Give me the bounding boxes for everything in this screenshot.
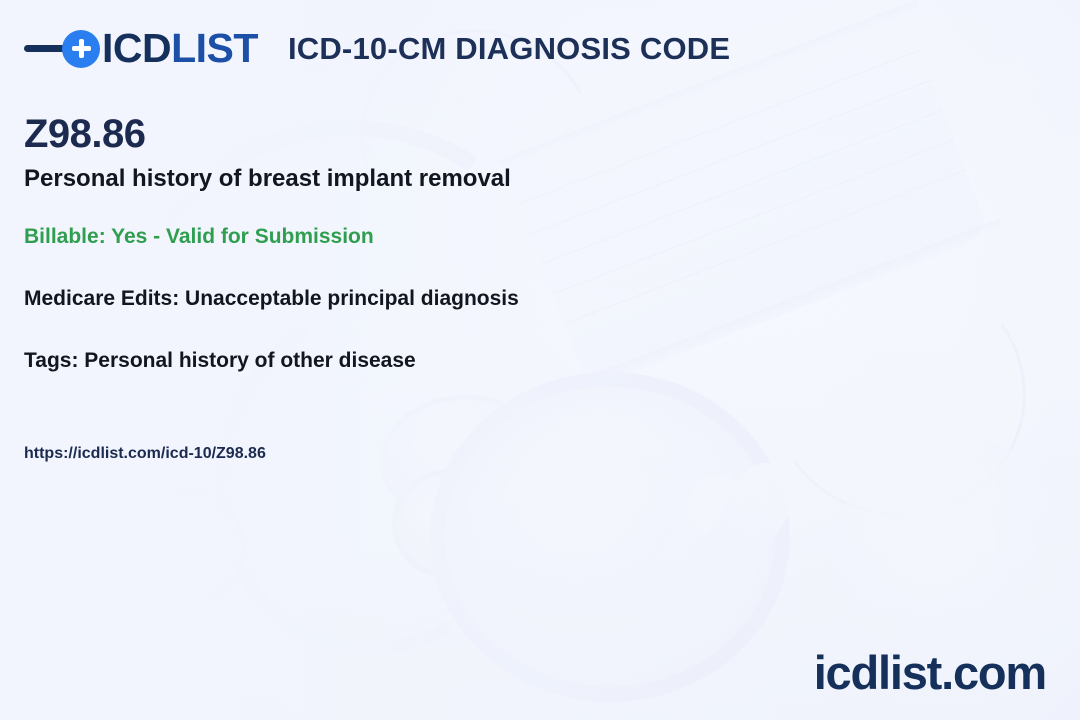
icd-code-card: ICDLIST ICD-10-CM DIAGNOSIS CODE Z98.86 … xyxy=(0,0,1080,720)
logo-word-list: LIST xyxy=(171,25,258,71)
page-title: ICD-10-CM DIAGNOSIS CODE xyxy=(288,31,730,67)
billable-status: Billable: Yes - Valid for Submission xyxy=(24,224,374,249)
card-content: ICDLIST ICD-10-CM DIAGNOSIS CODE Z98.86 … xyxy=(0,0,1080,720)
source-url[interactable]: https://icdlist.com/icd-10/Z98.86 xyxy=(24,444,266,463)
diagnosis-description: Personal history of breast implant remov… xyxy=(24,165,511,194)
icdlist-logo[interactable]: ICDLIST xyxy=(24,28,258,69)
header: ICDLIST ICD-10-CM DIAGNOSIS CODE xyxy=(24,28,730,69)
logo-wordmark: ICDLIST xyxy=(102,28,258,69)
logo-word-icd: ICD xyxy=(102,25,171,71)
medicare-edits: Medicare Edits: Unacceptable principal d… xyxy=(24,286,519,311)
footer-brand: icdlist.com xyxy=(814,649,1046,696)
diagnosis-code: Z98.86 xyxy=(24,112,146,156)
plus-circle-icon xyxy=(62,30,100,68)
tags-line: Tags: Personal history of other disease xyxy=(24,348,416,373)
